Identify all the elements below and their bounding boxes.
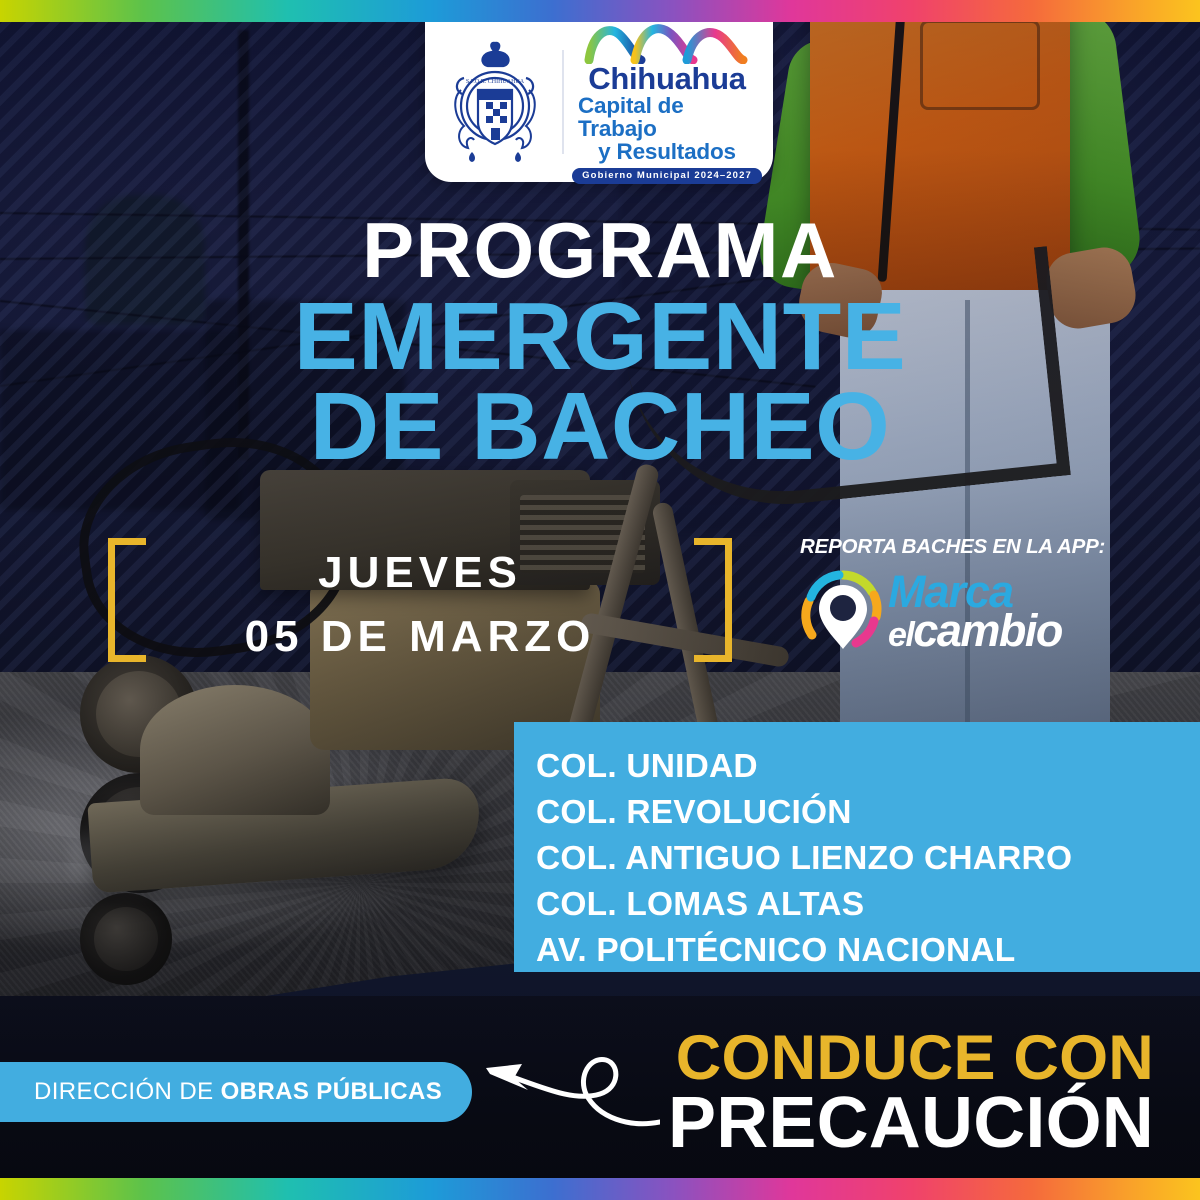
brand-term-pill: Gobierno Municipal 2024–2027 (572, 168, 762, 185)
list-item: COL. LOMAS ALTAS (536, 882, 1200, 928)
safety-slogan: CONDUCE CON PRECAUCIÓN (668, 1029, 1154, 1158)
app-name-el-cambio: elcambio (888, 612, 1062, 651)
location-pin-icon (800, 569, 886, 655)
headline-line-2: EMERGENTE (0, 293, 1200, 381)
chihuahua-wave-logo (583, 20, 751, 64)
date-weekday: JUEVES (100, 548, 740, 598)
app-name-el: el (888, 616, 913, 654)
arrow-head (486, 1064, 528, 1090)
slogan-line-1: CONDUCE CON (668, 1029, 1154, 1088)
logo-divider (562, 50, 564, 154)
brand-line-2: Capital de Trabajo (578, 95, 756, 141)
app-wordmark: Marca elcambio (888, 573, 1062, 650)
marca-el-cambio-logo[interactable]: Marca elcambio (800, 569, 1130, 655)
app-promo-block: REPORTA BACHES EN LA APP: Marca elcambio (800, 535, 1130, 655)
street-list-box: COL. UNIDAD COL. REVOLUCIÓN COL. ANTIGUO… (514, 722, 1200, 972)
government-logo-card: S.P.Q.R. CHIHUAHUA (425, 22, 773, 182)
department-label: DIRECCIÓN DE OBRAS PÚBLICAS (34, 1078, 442, 1106)
slogan-line-2: PRECAUCIÓN (668, 1090, 1154, 1158)
bottom-gradient-bar (0, 1178, 1200, 1200)
brand-line-3: y Resultados (598, 141, 736, 164)
date-block: JUEVES 05 DE MARZO (100, 530, 740, 670)
brand-line-1: Chihuahua (588, 64, 745, 94)
poster-root: S.P.Q.R. CHIHUAHUA (0, 0, 1200, 1200)
department-badge: DIRECCIÓN DE OBRAS PÚBLICAS (0, 1062, 472, 1122)
app-kicker-text: REPORTA BACHES EN LA APP: (800, 535, 1130, 559)
department-name: OBRAS PÚBLICAS (221, 1078, 443, 1105)
headline-line-1: PROGRAMA (0, 215, 1200, 287)
list-item: COL. ANTIGUO LIENZO CHARRO (536, 836, 1200, 882)
date-lines: JUEVES 05 DE MARZO (100, 530, 740, 662)
headline-line-3: DE BACHEO (0, 383, 1200, 471)
list-item: COL. REVOLUCIÓN (536, 790, 1200, 836)
curved-arrow-icon (470, 1030, 660, 1140)
date-day-month: 05 DE MARZO (100, 612, 740, 662)
list-item: AV. POLITÉCNICO NACIONAL (536, 928, 1200, 974)
department-prefix: DIRECCIÓN DE (34, 1078, 221, 1105)
chihuahua-coat-of-arms: S.P.Q.R. CHIHUAHUA (442, 40, 548, 164)
top-gradient-bar (0, 0, 1200, 22)
svg-text:S.P.Q.R. CHIHUAHUA: S.P.Q.R. CHIHUAHUA (466, 79, 525, 85)
list-item: COL. UNIDAD (536, 744, 1200, 790)
app-name-cambio: cambio (913, 605, 1062, 656)
chihuahua-brand-logo: Chihuahua Capital de Trabajo y Resultado… (578, 20, 756, 185)
main-headline: PROGRAMA EMERGENTE DE BACHEO (0, 215, 1200, 471)
